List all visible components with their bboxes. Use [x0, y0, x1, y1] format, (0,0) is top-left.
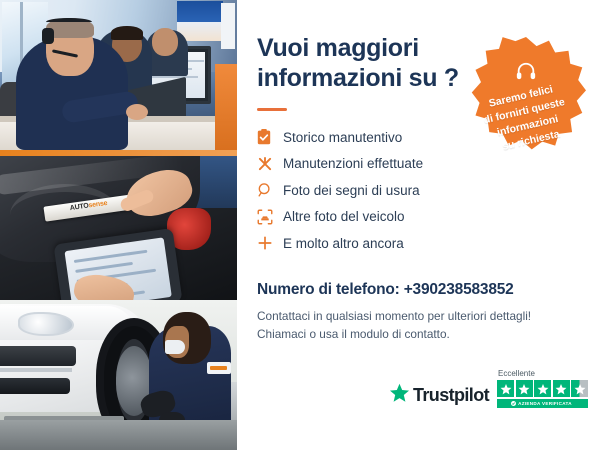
- page-title-line-1: Vuoi maggiori: [257, 33, 457, 63]
- headset-earpiece: [42, 28, 54, 44]
- feature-label: E molto altro ancora: [283, 236, 404, 251]
- star-filled: [534, 380, 551, 397]
- plus-icon: [257, 235, 283, 251]
- clipboard-check-icon: [257, 129, 283, 145]
- trustpilot-brand: Trustpilot: [389, 383, 489, 408]
- trustpilot-widget[interactable]: Trustpilot Eccellente: [389, 369, 588, 408]
- contact-line-1: Contattaci in qualsiasi momento per ulte…: [257, 307, 582, 325]
- page-title: Vuoi maggiori informazioni su ?: [257, 33, 457, 93]
- feature-item-foto-usura[interactable]: Foto dei segni di usura: [257, 177, 582, 204]
- feature-label: Storico manutentivo: [283, 130, 402, 145]
- trustpilot-rating-label: Eccellente: [498, 369, 535, 378]
- title-divider: [257, 108, 287, 111]
- headset-band: [46, 18, 92, 27]
- headset-icon: [516, 62, 537, 86]
- callout-badge: Saremo felici di fornirti queste informa…: [466, 37, 586, 155]
- wall-poster: [177, 1, 223, 41]
- phone-number[interactable]: Numero di telefono: +390238583852: [257, 281, 582, 299]
- tools-cross-icon: [257, 156, 283, 172]
- verified-check-icon: [511, 401, 516, 406]
- trustpilot-stars: [497, 380, 588, 397]
- car-chrome-trim: [0, 368, 72, 372]
- car-headlight: [18, 312, 74, 336]
- uniform-logo-patch: [207, 362, 231, 374]
- star-filled: [497, 380, 514, 397]
- wheel-service-photo: [0, 300, 237, 450]
- verified-badge: AZIENDA VERIFICATA: [497, 399, 588, 408]
- vehicle-inspection-photo: AUTOsense: [0, 150, 237, 300]
- car-lower-grille: [0, 378, 70, 394]
- feature-item-altro[interactable]: E molto altro ancora: [257, 230, 582, 257]
- trustpilot-star-icon: [389, 383, 410, 408]
- promo-banner: AUTOsense: [0, 0, 600, 450]
- call-center-photo: [0, 0, 237, 150]
- feature-label: Altre foto del veicolo: [283, 209, 405, 224]
- content-panel: Vuoi maggiori informazioni su ? Saremo f…: [237, 0, 600, 450]
- wall-poster-secondary: [221, 3, 235, 49]
- verified-label: AZIENDA VERIFICATA: [518, 401, 572, 406]
- page-title-line-2: informazioni su ?: [257, 63, 457, 93]
- trustpilot-score: Eccellente: [497, 369, 588, 408]
- scan-car-icon: [257, 209, 283, 225]
- star-filled: [516, 380, 533, 397]
- trustpilot-wordmark: Trustpilot: [413, 385, 489, 406]
- star-filled: [553, 380, 570, 397]
- background-worker-2-hair: [111, 26, 143, 40]
- star-half: [571, 380, 588, 397]
- foreground-agent-hand: [126, 104, 148, 120]
- photo-column: AUTOsense: [0, 0, 237, 450]
- workshop-floor: [0, 420, 237, 450]
- car-upper-grille: [0, 346, 76, 366]
- contact-line-2: Chiamaci o usa il modulo di contatto.: [257, 325, 582, 343]
- feature-item-altre-foto[interactable]: Altre foto del veicolo: [257, 204, 582, 231]
- background-worker-3-head: [152, 28, 178, 56]
- contact-description: Contattaci in qualsiasi momento per ulte…: [257, 307, 582, 344]
- feature-label: Foto dei segni di usura: [283, 183, 420, 198]
- orange-shelf-accent: [215, 64, 237, 150]
- mechanic-face-mask: [165, 340, 185, 354]
- magnifier-icon: [257, 182, 283, 198]
- photo-top-accent: [0, 150, 237, 156]
- feature-label: Manutenzioni effettuate: [283, 156, 423, 171]
